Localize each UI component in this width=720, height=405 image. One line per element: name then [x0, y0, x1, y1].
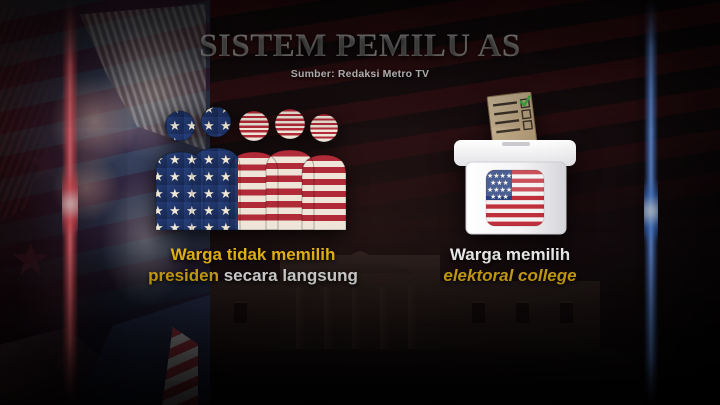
source-credit: Sumber: Redaksi Metro TV [0, 68, 720, 80]
left-caption-line1: Warga tidak memilih [171, 245, 336, 264]
right-caption-line2: elektoral college [443, 266, 576, 285]
left-caption-line2-highlight: presiden [148, 266, 219, 285]
white-house-window [234, 301, 247, 323]
left-caption-line2-plain: secara langsung [219, 266, 358, 285]
us-flag-badge: ★★★★ ★★★ ★★★★ ★★★ [486, 170, 544, 226]
white-house-window [472, 301, 485, 323]
infographic-slide: ★ ★ ★ ★ ★ ★ ★ ★ ★ ★ ★ ★ ★ [0, 0, 720, 405]
white-house-window [516, 301, 529, 323]
title-block: SISTEM PEMILU AS Sumber: Redaksi Metro T… [0, 28, 720, 80]
right-caption: Warga memilih elektoral college [400, 245, 620, 286]
group-of-people-icon: ★ [150, 100, 350, 230]
ballot-box-icon: ★★★★ ★★★ ★★★★ ★★★ [440, 92, 590, 237]
right-caption-line1: Warga memilih [450, 245, 570, 264]
left-caption: Warga tidak memilih presiden secara lang… [118, 245, 388, 286]
white-house-window [560, 301, 573, 323]
page-title: SISTEM PEMILU AS [0, 28, 720, 64]
